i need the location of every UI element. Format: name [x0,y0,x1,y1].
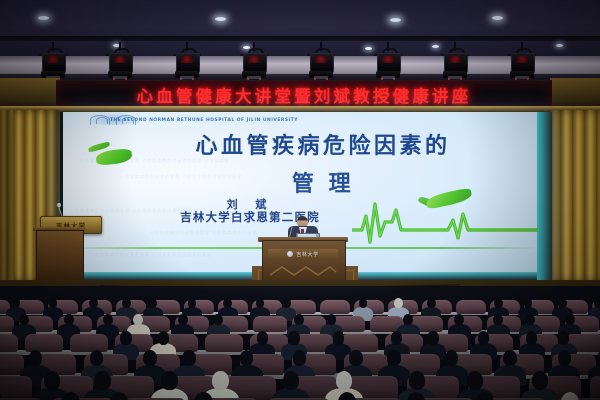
audience-member-head [256,298,265,308]
downlight [556,44,563,47]
audience-member-head [212,371,228,390]
downlight [215,17,226,21]
audience-member-head [19,314,29,326]
audience-seat [205,334,243,352]
audience-member-head [64,314,74,326]
audience-member-head [454,314,464,326]
audience-member-head [90,350,104,366]
audience-member-head [333,331,344,344]
audience-member-head [526,331,537,344]
audience-member-head [158,331,169,344]
led-banner-text: 心血管健康大讲堂暨刘斌教授健康讲座 [137,83,472,107]
podium-nameplate-text: 吉林大学 [296,251,318,258]
podium-nameplate: 吉林大学 [268,249,338,259]
audience-seat [320,300,350,314]
presenter-organization: 吉林大学白求恩第二医院 [130,209,370,225]
audience-member-head [182,350,196,366]
downlight [365,47,372,50]
audience-member-head [89,298,98,308]
audience-member-head [445,350,459,366]
audience-seat [25,334,63,352]
audience-member-head [294,314,304,326]
audience-member-head [257,331,268,344]
audience-member-head [223,298,232,308]
audience-member-head [391,331,402,344]
screen-edge-right [537,112,552,280]
audience-member-head [478,331,489,344]
slide-header-text: THE SECOND NORMAN BETHUNE HOSPITAL OF JI… [64,118,298,123]
downlight [390,18,401,22]
stage-spotlight [239,42,269,82]
audience-member-head [565,314,575,326]
audience-seat [0,334,18,352]
audience-member-head [409,371,425,390]
stage-spotlight [38,42,68,82]
stage-spotlight [105,42,135,82]
audience-member-head [558,331,569,344]
audience-member-head [403,314,413,326]
downlight [38,16,49,20]
audience-member-head [336,371,352,390]
ceiling-truss-beam [0,36,600,41]
audience-member-head [558,350,572,366]
stage-spotlight [373,42,403,82]
slide-title-line1: 心血管疾病危险因素的 [118,136,528,158]
audience-seat [253,316,287,332]
audience-member-head [427,298,436,308]
audience-member-head [94,371,110,390]
audience-seat [456,300,486,314]
downlight [492,16,503,20]
microphone-icon [57,203,61,207]
audience-member-head [494,298,503,308]
audience-member-head [148,298,157,308]
audience-member-head [349,350,363,366]
audience-member-head [467,371,483,390]
audience-member-head [387,350,401,366]
audience-seat [590,376,600,400]
stage-spotlight [306,42,336,82]
audience-member-head [282,298,291,308]
university-seal-icon [287,251,293,257]
stage-spotlight [440,42,470,82]
audience-member-head [178,314,188,326]
audience-member-head [120,331,131,344]
audience-member-head [283,371,299,390]
audience-member-head [359,298,368,308]
audience-member-head [29,350,43,366]
podium-chevron-ornament [268,264,338,278]
audience-member-head [44,371,60,390]
podium-left [36,230,84,284]
auditorium-photo: 心血管健康大讲堂暨刘斌教授健康讲座 心血管疾病危险因素的管理 心血管疾病危险因素… [0,0,600,400]
audience-member-head [503,350,517,366]
audience-seat [70,334,108,352]
audience-member-head [240,350,254,366]
audience-member-head [558,298,567,308]
slide-header: THE SECOND NORMAN BETHUNE HOSPITAL OF JI… [64,114,534,126]
curtain-right [548,110,600,282]
audience-member-head [293,350,307,366]
audience-member-head [122,298,131,308]
audience-seat [0,376,32,400]
audience-member-head [143,350,157,366]
audience-member-head [394,298,403,308]
audience-member-head [103,314,113,326]
audience-member-head [161,371,177,390]
audience-member-head [427,331,438,344]
audience-member-head [594,298,600,308]
stage-spotlight [507,42,537,82]
audience-member-head [532,371,548,390]
audience-member-head [12,298,21,308]
audience-rows [0,286,600,400]
audience-member-head [288,331,299,344]
downlight [432,45,439,48]
audience-member-head [525,314,535,326]
stage-spotlight [172,42,202,82]
